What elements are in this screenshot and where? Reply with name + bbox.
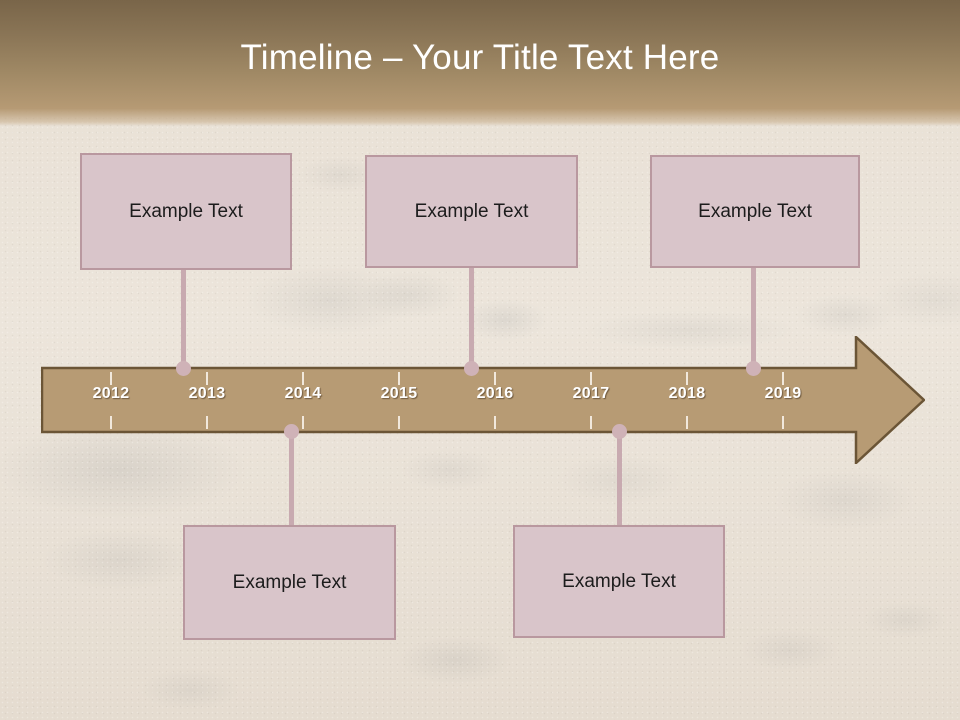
- tick-bottom-2013: [206, 416, 208, 429]
- tick-bottom-2016: [494, 416, 496, 429]
- connector-dot-4: [284, 424, 299, 439]
- connector-line-4: [289, 431, 294, 525]
- year-label-2018: 2018: [639, 385, 735, 403]
- year-label-2012: 2012: [63, 385, 159, 403]
- tick-top-2019: [782, 372, 784, 385]
- tick-top-2014: [302, 372, 304, 385]
- tick-top-2017: [590, 372, 592, 385]
- callout-box-5[interactable]: Example Text: [513, 525, 725, 638]
- timeline-slide: Timeline – Your Title Text Here 2012 201…: [0, 0, 960, 720]
- tick-bottom-2019: [782, 416, 784, 429]
- tick-top-2015: [398, 372, 400, 385]
- year-label-2016: 2016: [447, 385, 543, 403]
- year-label-2013: 2013: [159, 385, 255, 403]
- callout-text-2: Example Text: [407, 201, 537, 223]
- tick-bottom-2017: [590, 416, 592, 429]
- connector-dot-1: [176, 361, 191, 376]
- tick-bottom-2015: [398, 416, 400, 429]
- tick-top-2013: [206, 372, 208, 385]
- tick-top-2016: [494, 372, 496, 385]
- callout-text-4: Example Text: [225, 572, 355, 594]
- callout-text-5: Example Text: [554, 571, 684, 593]
- tick-bottom-2018: [686, 416, 688, 429]
- connector-line-1: [181, 270, 186, 368]
- page-title: Timeline – Your Title Text Here: [0, 38, 960, 78]
- callout-box-1[interactable]: Example Text: [80, 153, 292, 270]
- callout-text-3: Example Text: [690, 201, 820, 223]
- callout-text-1: Example Text: [121, 201, 251, 223]
- tick-bottom-2012: [110, 416, 112, 429]
- callout-box-3[interactable]: Example Text: [650, 155, 860, 268]
- year-label-2015: 2015: [351, 385, 447, 403]
- tick-top-2012: [110, 372, 112, 385]
- connector-dot-3: [746, 361, 761, 376]
- tick-top-2018: [686, 372, 688, 385]
- tick-bottom-2014: [302, 416, 304, 429]
- connector-line-3: [751, 268, 756, 368]
- connector-line-2: [469, 268, 474, 368]
- callout-box-2[interactable]: Example Text: [365, 155, 578, 268]
- connector-dot-5: [612, 424, 627, 439]
- year-label-2014: 2014: [255, 385, 351, 403]
- connector-dot-2: [464, 361, 479, 376]
- connector-line-5: [617, 431, 622, 525]
- year-label-2017: 2017: [543, 385, 639, 403]
- callout-box-4[interactable]: Example Text: [183, 525, 396, 640]
- year-label-2019: 2019: [735, 385, 831, 403]
